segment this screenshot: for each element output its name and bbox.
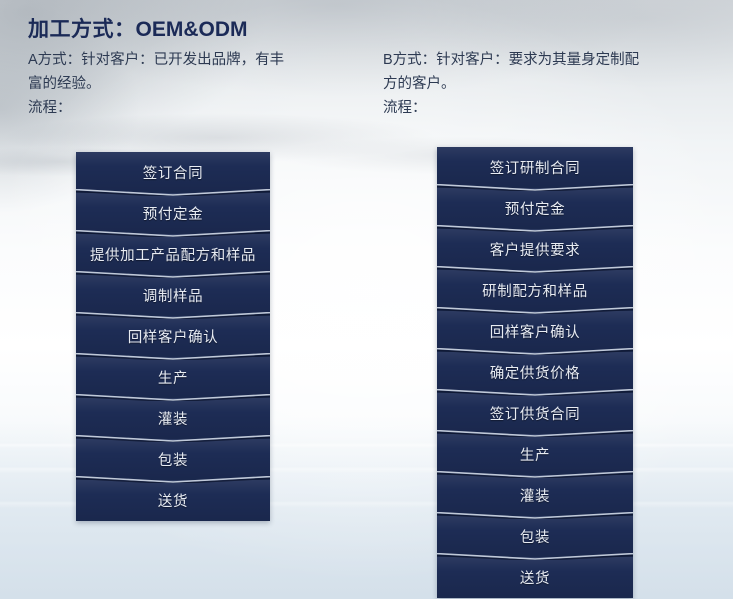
flow-step-label: 包装	[158, 449, 188, 470]
flow-step-b-2[interactable]: 预付定金	[437, 188, 633, 229]
flow-step-b-6[interactable]: 确定供货价格	[437, 352, 633, 393]
flow-step-a-3[interactable]: 提供加工产品配方和样品	[76, 234, 270, 275]
flow-step-b-4[interactable]: 研制配方和样品	[437, 270, 633, 311]
flow-step-label: 灌装	[520, 485, 550, 506]
flow-step-a-1[interactable]: 签订合同	[76, 152, 270, 193]
flow-step-label: 包装	[520, 526, 550, 547]
intro-blurbs: A方式：针对客户：已开发出品牌，有丰 富的经验。 流程： B方式：针对客户：要求…	[28, 48, 728, 120]
page-title-en: OEM&ODM	[136, 18, 248, 41]
flow-step-label: 提供加工产品配方和样品	[90, 244, 256, 265]
flowchart-b: 签订研制合同预付定金客户提供要求研制配方和样品回样客户确认确定供货价格签订供货合…	[437, 147, 633, 598]
intro-b-line-3: 流程：	[383, 96, 713, 120]
flow-step-b-10[interactable]: 包装	[437, 516, 633, 557]
flow-step-label: 签订研制合同	[490, 157, 581, 178]
flowchart-a: 签订合同预付定金提供加工产品配方和样品调制样品回样客户确认生产灌装包装送货	[76, 152, 270, 521]
flow-step-label: 预付定金	[143, 203, 203, 224]
slide-canvas: 加工方式：OEM&ODM A方式：针对客户：已开发出品牌，有丰 富的经验。 流程…	[0, 0, 733, 599]
flow-step-label: 送货	[520, 567, 550, 588]
flow-step-label: 客户提供要求	[490, 239, 581, 260]
flow-step-b-8[interactable]: 生产	[437, 434, 633, 475]
flow-step-b-11[interactable]: 送货	[437, 557, 633, 598]
flow-step-label: 研制配方和样品	[482, 280, 588, 301]
flow-step-b-9[interactable]: 灌装	[437, 475, 633, 516]
intro-blurb-a: A方式：针对客户：已开发出品牌，有丰 富的经验。 流程：	[28, 48, 373, 120]
flow-step-label: 预付定金	[505, 198, 565, 219]
intro-b-line-1: B方式：针对客户：要求为其量身定制配	[383, 48, 713, 72]
page-title-cn: 加工方式：	[28, 18, 136, 41]
flow-step-a-6[interactable]: 生产	[76, 357, 270, 398]
flow-step-label: 生产	[520, 444, 550, 465]
intro-b-line-2: 方的客户。	[383, 72, 713, 96]
flow-step-label: 签订供货合同	[490, 403, 581, 424]
flow-step-b-5[interactable]: 回样客户确认	[437, 311, 633, 352]
flow-step-label: 调制样品	[143, 285, 203, 306]
flow-step-label: 送货	[158, 490, 188, 511]
page-header: 加工方式：OEM&ODM	[28, 17, 718, 43]
flow-step-label: 签订合同	[143, 162, 203, 183]
flow-step-label: 生产	[158, 367, 188, 388]
flow-step-b-3[interactable]: 客户提供要求	[437, 229, 633, 270]
flow-step-label: 回样客户确认	[490, 321, 581, 342]
flow-step-b-1[interactable]: 签订研制合同	[437, 147, 633, 188]
flow-step-label: 回样客户确认	[128, 326, 219, 347]
intro-blurb-b: B方式：针对客户：要求为其量身定制配 方的客户。 流程：	[383, 48, 713, 120]
intro-a-line-2: 富的经验。	[28, 72, 373, 96]
flow-step-a-5[interactable]: 回样客户确认	[76, 316, 270, 357]
flow-step-b-7[interactable]: 签订供货合同	[437, 393, 633, 434]
flow-step-a-9[interactable]: 送货	[76, 480, 270, 521]
flow-step-a-4[interactable]: 调制样品	[76, 275, 270, 316]
flow-step-label: 灌装	[158, 408, 188, 429]
flow-step-label: 确定供货价格	[490, 362, 581, 383]
flow-step-a-8[interactable]: 包装	[76, 439, 270, 480]
page-title: 加工方式：OEM&ODM	[28, 17, 718, 43]
intro-a-line-1: A方式：针对客户：已开发出品牌，有丰	[28, 48, 373, 72]
flow-step-a-7[interactable]: 灌装	[76, 398, 270, 439]
intro-a-line-3: 流程：	[28, 96, 373, 120]
flow-step-a-2[interactable]: 预付定金	[76, 193, 270, 234]
